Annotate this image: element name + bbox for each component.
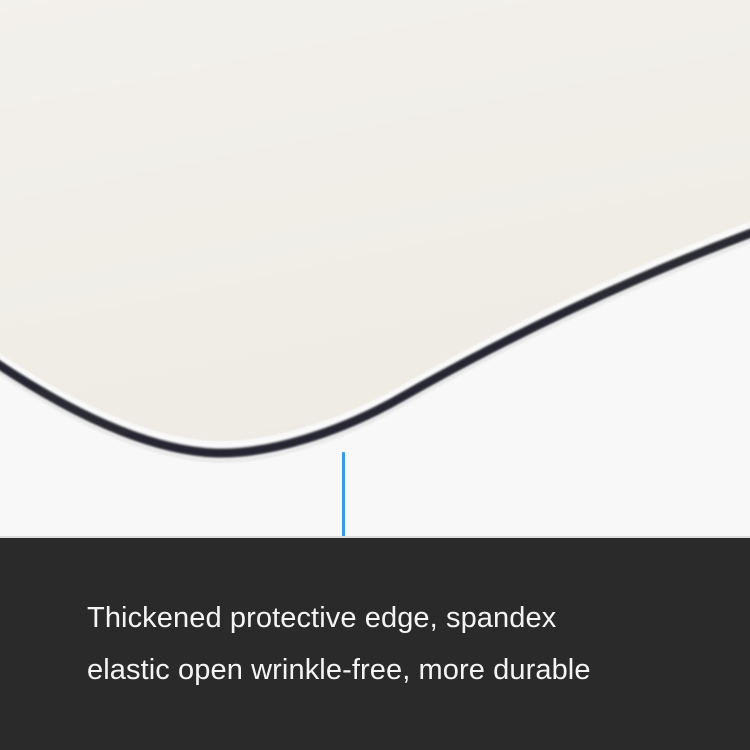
product-photo bbox=[0, 0, 750, 536]
caption-line-2: elastic open wrinkle-free, more durable bbox=[87, 644, 687, 696]
caption-line-1: Thickened protective edge, spandex bbox=[87, 592, 687, 644]
desk-mat-corner-illustration bbox=[0, 0, 750, 536]
product-feature-poster: Thickened protective edge, spandex elast… bbox=[0, 0, 750, 750]
caption-text: Thickened protective edge, spandex elast… bbox=[87, 592, 687, 696]
caption-band: Thickened protective edge, spandex elast… bbox=[0, 536, 750, 750]
